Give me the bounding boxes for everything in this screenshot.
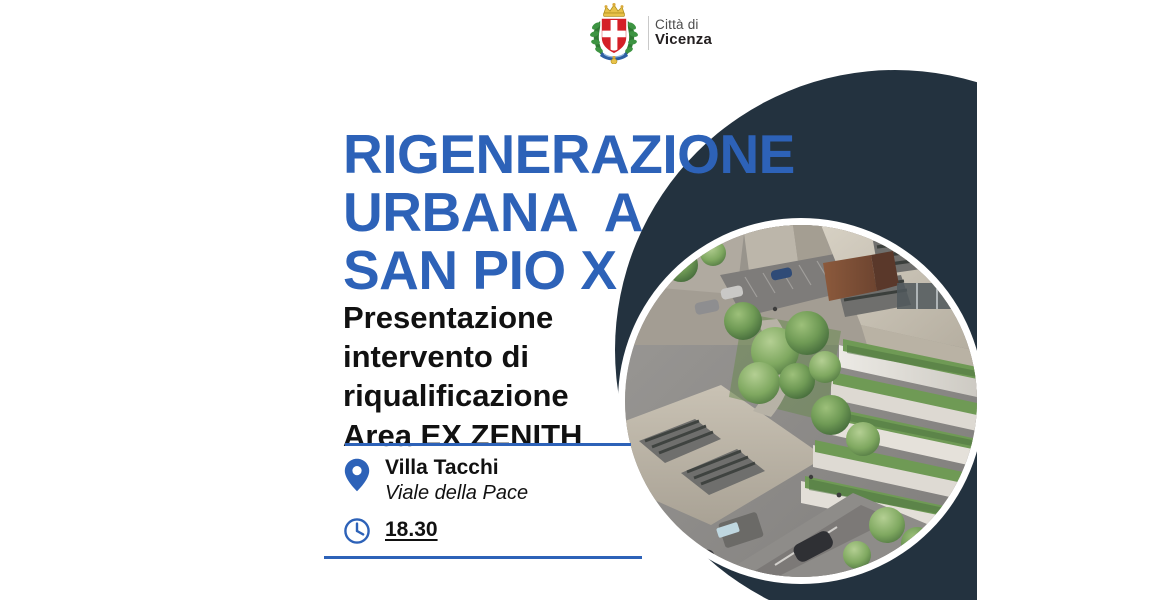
venue-address: Viale della Pace xyxy=(385,481,528,506)
poster-subheading: Presentazione intervento di riqualificaz… xyxy=(343,298,673,455)
brand-logo: Città di Vicenza xyxy=(586,2,716,64)
brand-divider xyxy=(648,16,649,50)
headline-line-1: RIGENERAZIONE xyxy=(343,125,843,183)
vicenza-coat-of-arms-icon xyxy=(586,2,642,64)
map-pin-icon xyxy=(341,456,373,492)
event-details: Villa Tacchi Viale della Pace 18.30 xyxy=(341,456,661,545)
clock-icon xyxy=(341,515,373,545)
divider-rule-top xyxy=(345,443,631,446)
venue-row: Villa Tacchi Viale della Pace xyxy=(341,456,661,506)
poster-canvas: Città di Vicenza RIGENERAZIONE URBANA A … xyxy=(0,0,1170,600)
brand-line-citta: Città di xyxy=(655,17,712,32)
venue-text-group: Villa Tacchi Viale della Pace xyxy=(385,456,528,506)
brand-line-vicenza: Vicenza xyxy=(655,32,712,49)
poster-headline: RIGENERAZIONE URBANA A SAN PIO X xyxy=(343,125,843,300)
headline-line-3: SAN PIO X xyxy=(343,241,843,299)
event-time: 18.30 xyxy=(385,518,438,542)
divider-rule-bottom xyxy=(324,556,642,559)
subhead-line-2: intervento di xyxy=(343,337,673,376)
brand-wordmark: Città di Vicenza xyxy=(655,17,712,49)
subhead-line-4: Area EX ZENITH xyxy=(343,416,673,455)
venue-name: Villa Tacchi xyxy=(385,456,528,481)
headline-line-2: URBANA A xyxy=(343,183,843,241)
subhead-line-3: riqualificazione xyxy=(343,376,673,415)
time-row: 18.30 xyxy=(341,515,661,545)
subhead-line-1: Presentazione xyxy=(343,298,673,337)
